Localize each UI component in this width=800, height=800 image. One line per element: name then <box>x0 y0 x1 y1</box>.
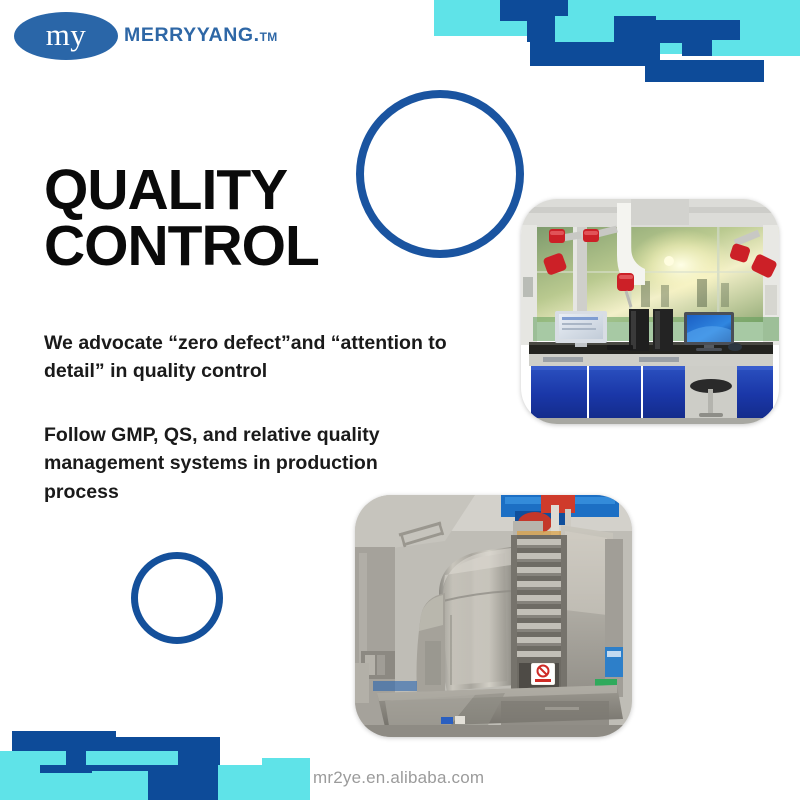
page-title-line-2: CONTROL <box>44 219 444 275</box>
circle-outline-small <box>131 552 223 644</box>
bl-light-3 <box>0 773 92 800</box>
laboratory-workbench-photo <box>521 199 779 424</box>
tr-dark-5 <box>530 42 660 66</box>
bl-dark-5 <box>148 765 226 800</box>
brand-name: MERRYYANG.TM <box>124 24 278 47</box>
tr-dark-7 <box>645 60 764 82</box>
tr-light-2 <box>568 0 656 16</box>
tr-light-5 <box>712 40 800 56</box>
page-title: QUALITY CONTROL <box>44 163 444 275</box>
brand-tm-text: TM <box>260 30 278 44</box>
body-paragraph-2: Follow GMP, QS, and relative quality man… <box>44 421 454 506</box>
logo-mark-text: my <box>14 12 118 60</box>
poster-canvas: my MERRYYANG.TM QUALITY CONTROL We advoc… <box>0 0 800 800</box>
body-paragraph-1: We advocate “zero defect”and “attention … <box>44 329 496 386</box>
bl-light-6 <box>262 758 310 778</box>
machinery-photo-graphic <box>355 495 632 737</box>
bl-dark-6 <box>178 737 220 765</box>
brand-name-text: MERRYYANG. <box>124 24 260 46</box>
tr-dark-6 <box>682 40 712 56</box>
bl-dark-1 <box>12 731 116 751</box>
laboratory-photo-graphic <box>521 199 779 424</box>
bl-dark-3 <box>66 751 86 765</box>
footer-url[interactable]: mr2ye.en.alibaba.com <box>313 768 484 788</box>
page-title-line-1: QUALITY <box>44 158 287 222</box>
stainless-steel-machinery-photo <box>355 495 632 737</box>
tr-dark-4 <box>656 20 740 40</box>
brand-logo[interactable]: my MERRYYANG.TM <box>14 8 314 64</box>
